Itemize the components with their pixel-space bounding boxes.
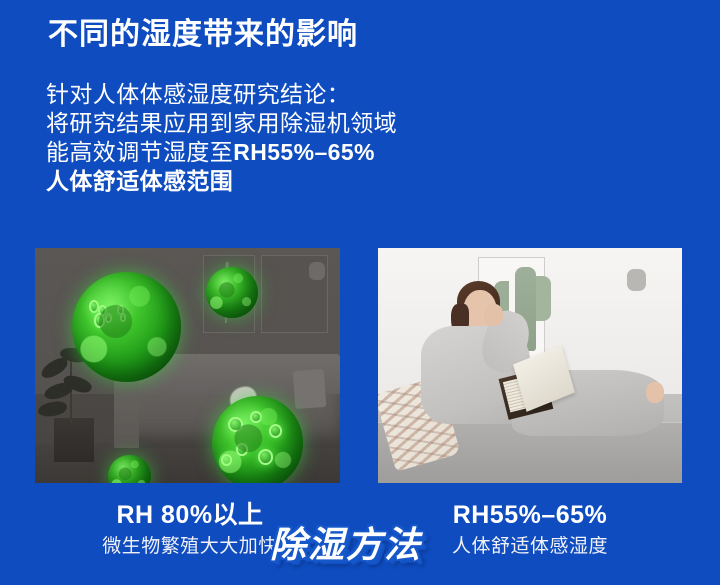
germ-blob [236, 443, 249, 456]
germ-blob [120, 313, 127, 322]
dark-room-scene [35, 248, 340, 483]
germ-blob [89, 300, 99, 313]
photo-humid-room-germs [35, 248, 340, 483]
plant-leaf [37, 401, 68, 418]
subtitle-line-1: 针对人体体感湿度研究结论： [46, 80, 516, 109]
subtitle-block: 针对人体体感湿度研究结论： 将研究结果应用到家用除湿机领域 能高效调节湿度至RH… [46, 80, 516, 196]
germ-blob [98, 305, 107, 316]
germ-blob [117, 305, 125, 315]
woman-hand [484, 304, 502, 325]
germ-blob [221, 454, 232, 465]
germ-cluster-low [212, 396, 304, 483]
page-title: 不同的湿度带来的影响 [48, 17, 358, 53]
germ-blob [258, 449, 274, 465]
photo-row: 除湿方法 [0, 248, 720, 483]
plant-pot [54, 418, 94, 462]
germ-cluster-medium [206, 267, 258, 319]
poster-root: 不同的湿度带来的影响 针对人体体感湿度研究结论： 将研究结果应用到家用除湿机领域… [0, 0, 720, 585]
subtitle-line-3-highlight: RH55%–65% [233, 139, 375, 165]
subtitle-line-2: 将研究结果应用到家用除湿机领域 [46, 109, 516, 138]
germ-blob [269, 424, 283, 438]
subtitle-line-3-plain: 能高效调节湿度至 [46, 139, 233, 165]
light-room-scene [378, 248, 682, 483]
woman-foot [646, 382, 664, 403]
germ-blob [105, 313, 113, 323]
subtitle-line-4: 人体舒适体感范围 [46, 167, 516, 196]
overlay-headline: 除湿方法 [270, 516, 422, 568]
photo-comfortable-room-woman-reading [378, 248, 682, 483]
germ-blob [228, 417, 243, 432]
subtitle-line-3: 能高效调节湿度至RH55%–65% [46, 138, 516, 167]
germ-cluster-large [72, 272, 182, 382]
germ-blob [250, 411, 262, 423]
wall-knob [309, 262, 325, 280]
wall-knob [627, 269, 646, 291]
germ-cluster-small [108, 455, 151, 483]
germ-blob [94, 313, 105, 327]
cactus-arm-right [536, 276, 551, 321]
